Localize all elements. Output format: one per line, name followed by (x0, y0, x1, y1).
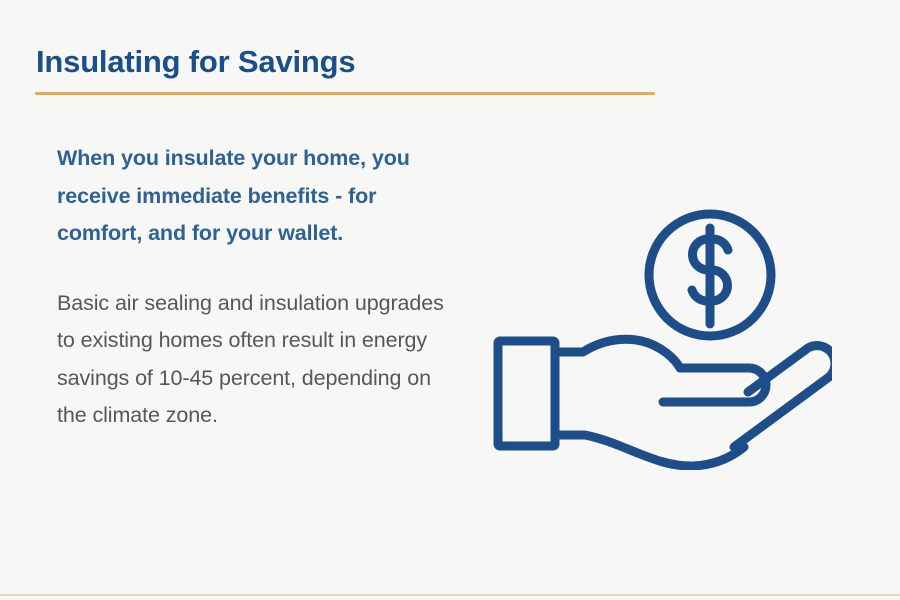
text-column: When you insulate your home, you receive… (57, 140, 457, 435)
sleeve-cuff (498, 341, 555, 446)
hand-upper-edge (555, 339, 749, 368)
title-accent-rule (35, 92, 655, 95)
page-title: Insulating for Savings (36, 44, 355, 80)
fingers (734, 346, 832, 447)
bottom-fill (0, 596, 900, 600)
hand-holding-dollar-coin-icon (482, 200, 832, 470)
palm-lower-edge (555, 435, 744, 466)
lead-paragraph: When you insulate your home, you receive… (57, 140, 457, 253)
body-paragraph: Basic air sealing and insulation upgrade… (57, 285, 457, 435)
bottom-divider (0, 594, 900, 596)
slide-insulating-for-savings: Insulating for Savings When you insulate… (0, 0, 900, 600)
